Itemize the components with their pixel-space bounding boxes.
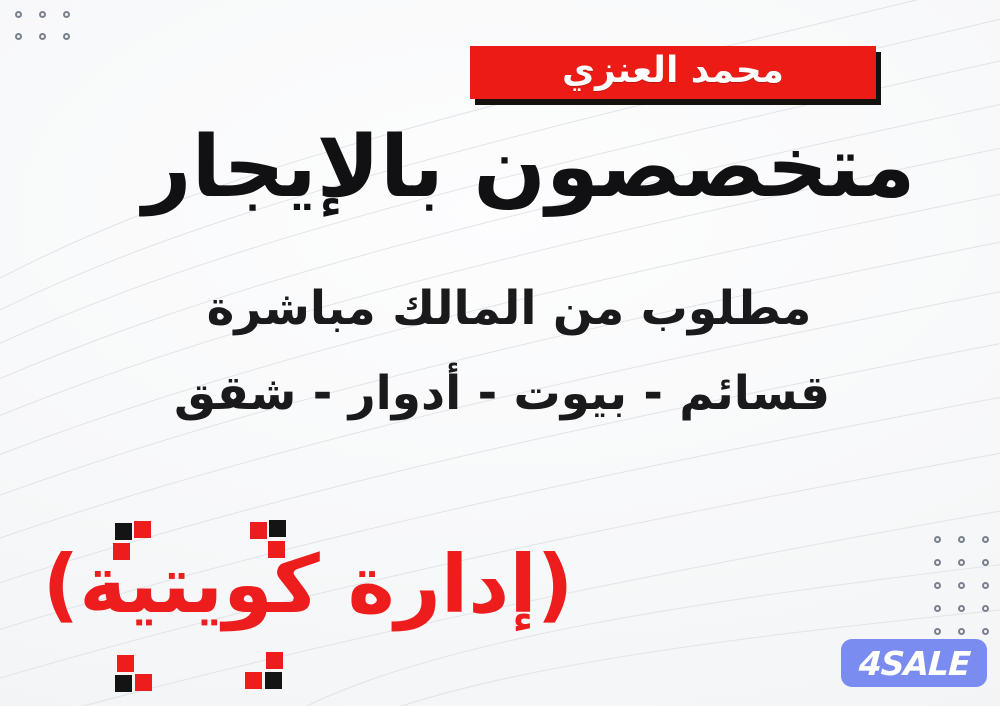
decor-square-black bbox=[115, 675, 132, 692]
ring-dot-icon bbox=[973, 596, 997, 620]
ring-dot-icon bbox=[973, 573, 997, 597]
ring-dot-icon bbox=[6, 24, 30, 48]
ring-dot-icon bbox=[973, 527, 997, 551]
decor-square-red bbox=[135, 674, 152, 691]
ring-dot-icon bbox=[6, 2, 30, 26]
ring-dot-icon bbox=[925, 596, 949, 620]
decor-square-red bbox=[117, 655, 134, 672]
4sale-logo[interactable]: 4SALE bbox=[841, 639, 987, 687]
subline-property-types: قسائم - بيوت - أدوار - شقق bbox=[0, 368, 1000, 420]
decor-square-black bbox=[115, 523, 132, 540]
decor-square-red bbox=[134, 521, 151, 538]
decor-square-red bbox=[266, 652, 283, 669]
kuwaiti-management-label: (إدارة كويتية) bbox=[8, 540, 608, 630]
ring-dot-icon bbox=[925, 527, 949, 551]
ring-dot-icon bbox=[949, 573, 973, 597]
decor-square-black bbox=[269, 520, 286, 537]
ring-dot-icon bbox=[925, 573, 949, 597]
4sale-logo-text: 4SALE bbox=[858, 647, 971, 680]
ring-dot-icon bbox=[949, 550, 973, 574]
advertiser-name-text: محمد العنزي bbox=[562, 53, 784, 89]
ring-dot-icon bbox=[30, 24, 54, 48]
ring-dot-icon bbox=[949, 596, 973, 620]
decor-square-red bbox=[268, 541, 285, 558]
ring-dot-icon bbox=[973, 550, 997, 574]
advertisement-canvas: محمد العنزي متخصصون بالإيجار مطلوب من ال… bbox=[0, 0, 1000, 706]
decor-square-black bbox=[265, 672, 282, 689]
advertiser-name-banner: محمد العنزي bbox=[470, 46, 876, 99]
decor-square-red bbox=[113, 543, 130, 560]
ring-dot-icon bbox=[925, 550, 949, 574]
dot-grid-bottom-right bbox=[925, 527, 997, 642]
decor-square-red bbox=[250, 522, 267, 539]
headline-specialists-in-rental: متخصصون بالإيجار bbox=[0, 122, 1000, 214]
decor-square-red bbox=[245, 672, 262, 689]
subline-direct-from-owner: مطلوب من المالك مباشرة bbox=[0, 283, 1000, 335]
ring-dot-icon bbox=[949, 527, 973, 551]
ring-dot-icon bbox=[30, 2, 54, 26]
ring-dot-icon bbox=[54, 24, 78, 48]
dot-grid-top-left bbox=[6, 2, 78, 46]
ring-dot-icon bbox=[54, 2, 78, 26]
